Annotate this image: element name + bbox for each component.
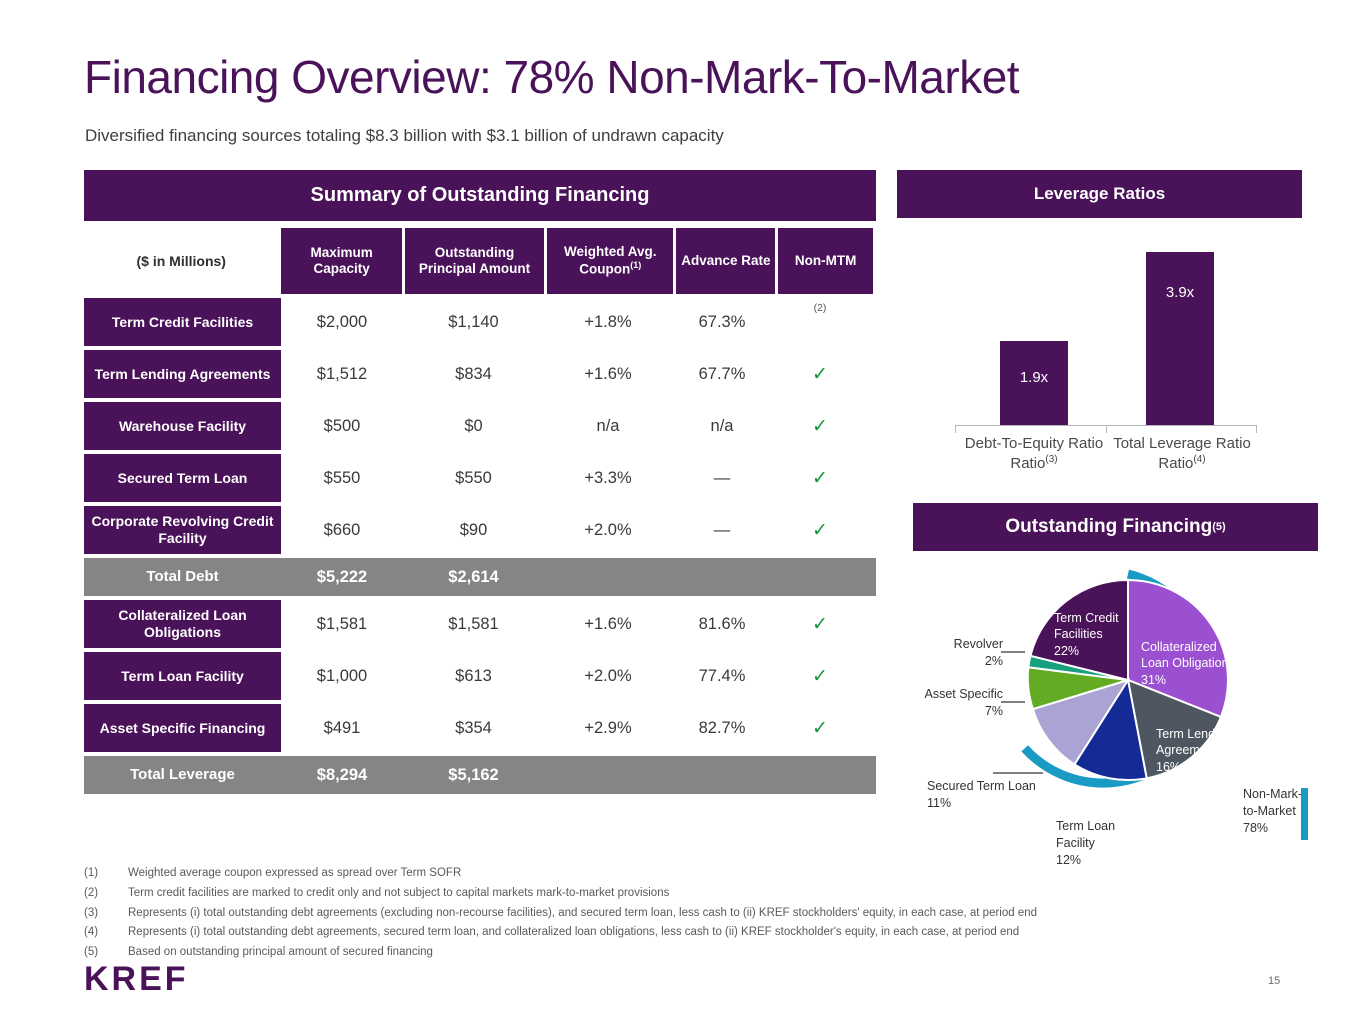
footnote-ref-1: (1) bbox=[630, 260, 641, 270]
footnote-item: (5) Based on outstanding principal amoun… bbox=[84, 943, 1284, 963]
cell-total-leverage-max-capacity: $8,294 bbox=[281, 756, 403, 794]
kref-logo: KREF bbox=[84, 960, 189, 999]
cell-non-mtm: ✓ bbox=[772, 454, 868, 502]
checkmark-icon: ✓ bbox=[812, 719, 828, 738]
cell-max-capacity: $660 bbox=[281, 506, 403, 554]
cell-total-leverage-advance bbox=[672, 756, 772, 794]
row-label-term-credit-facilities: Term Credit Facilities bbox=[84, 298, 281, 346]
checkmark-icon: ✓ bbox=[812, 667, 828, 686]
cell-total-debt-advance bbox=[672, 558, 772, 596]
cell-coupon: n/a bbox=[544, 402, 672, 450]
column-header-non-mtm-label: Non-MTM bbox=[795, 253, 856, 269]
pie-label-collateralized-loan-obligations: Collateralized Loan Obligations31% bbox=[1141, 639, 1247, 688]
row-label-total-leverage: Total Leverage bbox=[84, 756, 281, 794]
pie-label-secured-term-loan: Secured Term Loan11% bbox=[927, 778, 1047, 812]
footnote-text: Term credit facilities are marked to cre… bbox=[128, 884, 669, 904]
cell-non-mtm: ✓ bbox=[772, 704, 868, 752]
pie-label-term-lending-agreements-text: Term Lending Agreements bbox=[1156, 727, 1232, 757]
pie-label-term-loan-facility: Term LoanFacility12% bbox=[1056, 818, 1136, 869]
outstanding-financing-header-label: Outstanding Financing bbox=[1005, 516, 1212, 538]
footnotes: (1) Weighted average coupon expressed as… bbox=[84, 864, 1284, 963]
table-row: Collateralized Loan Obligations $1,581 $… bbox=[84, 600, 876, 648]
table-row: Term Loan Facility $1,000 $613 +2.0% 77.… bbox=[84, 652, 876, 700]
column-header-advance-rate-label: Advance Rate bbox=[681, 253, 770, 269]
row-label-warehouse-facility: Warehouse Facility bbox=[84, 402, 281, 450]
footnote-item: (2) Term credit facilities are marked to… bbox=[84, 884, 1284, 904]
footnote-ref-5: (5) bbox=[1212, 521, 1225, 533]
cell-coupon: +1.6% bbox=[544, 350, 672, 398]
pie-value-secured-term-loan: 11% bbox=[927, 796, 951, 810]
footnote-number: (3) bbox=[84, 904, 128, 924]
cell-advance-rate: 67.7% bbox=[672, 350, 772, 398]
footnote-item: (3) Represents (i) total outstanding deb… bbox=[84, 904, 1284, 924]
cell-outstanding: $90 bbox=[403, 506, 544, 554]
footnote-text: Weighted average coupon expressed as spr… bbox=[128, 864, 461, 884]
cell-total-debt-outstanding: $2,614 bbox=[403, 558, 544, 596]
page-title: Financing Overview: 78% Non-Mark-To-Mark… bbox=[84, 50, 1019, 104]
cell-non-mtm: ✓ bbox=[772, 652, 868, 700]
pie-label-nonmtm-l2: to-Market bbox=[1243, 804, 1296, 818]
pie-label-revolver-text: Revolver bbox=[954, 637, 1003, 651]
outstanding-financing-chart: Term Credit Facilities22% Collateralized… bbox=[913, 560, 1353, 880]
total-debt-row: Total Debt $5,222 $2,614 bbox=[84, 558, 876, 596]
table-row: Warehouse Facility $500 $0 n/a n/a ✓ bbox=[84, 402, 876, 450]
leverage-ratios-chart: 1.9x 3.9x Debt-To-Equity Ratio Ratio(3) … bbox=[897, 230, 1302, 480]
cell-advance-rate: 67.3% bbox=[672, 298, 772, 346]
cell-coupon: +2.0% bbox=[544, 506, 672, 554]
cell-max-capacity: $550 bbox=[281, 454, 403, 502]
pie-value-asset-specific: 7% bbox=[985, 704, 1003, 718]
checkmark-icon: ✓ bbox=[812, 417, 828, 436]
cell-max-capacity: $1,512 bbox=[281, 350, 403, 398]
cell-total-debt-non-mtm bbox=[772, 558, 868, 596]
footnote-number: (1) bbox=[84, 864, 128, 884]
cell-outstanding: $0 bbox=[403, 402, 544, 450]
axis-tick-left bbox=[955, 425, 956, 433]
row-label-corporate-revolving-credit-facility: Corporate Revolving Credit Facility bbox=[84, 506, 281, 554]
cell-total-debt-coupon bbox=[544, 558, 672, 596]
cell-coupon: +1.8% bbox=[544, 298, 672, 346]
pie-label-term-credit-facilities-text: Term Credit Facilities bbox=[1054, 611, 1119, 641]
axis-label-debt-to-equity-text: Debt-To-Equity Ratio bbox=[965, 435, 1103, 452]
row-label-secured-term-loan: Secured Term Loan bbox=[84, 454, 281, 502]
cell-total-leverage-non-mtm bbox=[772, 756, 868, 794]
axis-tick-middle bbox=[1106, 425, 1107, 433]
row-label-collateralized-loan-obligations: Collateralized Loan Obligations bbox=[84, 600, 281, 648]
summary-table: ($ in Millions) Maximum Capacity Outstan… bbox=[84, 228, 876, 794]
checkmark-icon: ✓ bbox=[812, 615, 828, 634]
pie-label-term-credit-facilities: Term Credit Facilities22% bbox=[1054, 610, 1154, 659]
cell-total-leverage-coupon bbox=[544, 756, 672, 794]
bar-total-leverage bbox=[1146, 252, 1214, 425]
bar-label-total-leverage: 3.9x bbox=[1146, 284, 1214, 301]
footnote-text: Represents (i) total outstanding debt ag… bbox=[128, 904, 1037, 924]
cell-outstanding: $1,581 bbox=[403, 600, 544, 648]
cell-total-leverage-outstanding: $5,162 bbox=[403, 756, 544, 794]
table-row: Term Lending Agreements $1,512 $834 +1.6… bbox=[84, 350, 876, 398]
column-header-outstanding-principal: Outstanding Principal Amount bbox=[405, 228, 544, 294]
axis-label-total-leverage-suffix: Ratio(4) bbox=[1158, 455, 1205, 472]
cell-total-debt-max-capacity: $5,222 bbox=[281, 558, 403, 596]
column-header-coupon-label: Weighted Avg. Coupon bbox=[564, 244, 657, 277]
cell-coupon: +2.9% bbox=[544, 704, 672, 752]
pie-label-term-lending-agreements: Term Lending Agreements16% bbox=[1156, 726, 1250, 775]
cell-non-mtm: ✓ bbox=[772, 402, 868, 450]
cell-max-capacity: $1,581 bbox=[281, 600, 403, 648]
table-row: Term Credit Facilities $2,000 $1,140 +1.… bbox=[84, 298, 876, 346]
cell-non-mtm: ✓ bbox=[772, 600, 868, 648]
row-label-asset-specific-financing: Asset Specific Financing bbox=[84, 704, 281, 752]
cell-outstanding: $550 bbox=[403, 454, 544, 502]
cell-advance-rate: 81.6% bbox=[672, 600, 772, 648]
column-header-weighted-avg-coupon: Weighted Avg. Coupon(1) bbox=[547, 228, 673, 294]
table-row: Corporate Revolving Credit Facility $660… bbox=[84, 506, 876, 554]
cell-coupon: +3.3% bbox=[544, 454, 672, 502]
page-number: 15 bbox=[1268, 975, 1280, 987]
axis-label-debt-to-equity-suffix: Ratio(3) bbox=[1010, 455, 1057, 472]
pie-value-collateralized-loan-obligations: 31% bbox=[1141, 673, 1166, 687]
table-row: Asset Specific Financing $491 $354 +2.9%… bbox=[84, 704, 876, 752]
cell-advance-rate: 77.4% bbox=[672, 652, 772, 700]
pie-label-term-loan-facility-l1: Term Loan bbox=[1056, 819, 1115, 833]
table-row: Secured Term Loan $550 $550 +3.3% — ✓ bbox=[84, 454, 876, 502]
footnote-text: Represents (i) total outstanding debt ag… bbox=[128, 923, 1019, 943]
cell-coupon: +1.6% bbox=[544, 600, 672, 648]
axis-label-debt-to-equity: Debt-To-Equity Ratio Ratio(3) bbox=[954, 435, 1114, 474]
pie-label-revolver: Revolver2% bbox=[939, 636, 1003, 670]
summary-panel-header: Summary of Outstanding Financing bbox=[84, 170, 876, 221]
pie-value-term-lending-agreements: 16% bbox=[1156, 760, 1181, 774]
cell-coupon: +2.0% bbox=[544, 652, 672, 700]
pie-value-term-credit-facilities: 22% bbox=[1054, 644, 1079, 658]
cell-non-mtm: ✓ bbox=[772, 350, 868, 398]
axis-label-total-leverage: Total Leverage Ratio Ratio(4) bbox=[1102, 435, 1262, 474]
cell-advance-rate: — bbox=[672, 506, 772, 554]
cell-max-capacity: $500 bbox=[281, 402, 403, 450]
axis-tick-right bbox=[1256, 425, 1257, 433]
pie-value-revolver: 2% bbox=[985, 654, 1003, 668]
cell-outstanding: $613 bbox=[403, 652, 544, 700]
outstanding-financing-panel-header: Outstanding Financing(5) bbox=[913, 503, 1318, 551]
cell-outstanding: $834 bbox=[403, 350, 544, 398]
footnote-item: (4) Represents (i) total outstanding deb… bbox=[84, 923, 1284, 943]
column-header-max-capacity-label: Maximum Capacity bbox=[283, 245, 399, 277]
row-label-total-debt: Total Debt bbox=[84, 558, 281, 596]
leverage-ratios-panel-header: Leverage Ratios bbox=[897, 170, 1302, 218]
pie-label-term-loan-facility-l2: Facility bbox=[1056, 836, 1095, 850]
cell-advance-rate: n/a bbox=[672, 402, 772, 450]
footnote-ref-4: (4) bbox=[1193, 454, 1205, 465]
column-header-advance-rate: Advance Rate bbox=[676, 228, 775, 294]
checkmark-icon: ✓ bbox=[812, 365, 828, 384]
checkmark-icon: ✓ bbox=[812, 469, 828, 488]
column-header-outstanding-principal-label: Outstanding Principal Amount bbox=[407, 245, 542, 277]
pie-label-collateralized-loan-obligations-text: Collateralized Loan Obligations bbox=[1141, 640, 1235, 670]
pie-label-asset-specific: Asset Specific7% bbox=[915, 686, 1003, 720]
footnote-number: (2) bbox=[84, 884, 128, 904]
cell-max-capacity: $1,000 bbox=[281, 652, 403, 700]
pie-label-asset-specific-text: Asset Specific bbox=[924, 687, 1003, 701]
cell-max-capacity: $491 bbox=[281, 704, 403, 752]
axis-label-total-leverage-text: Total Leverage Ratio bbox=[1113, 435, 1251, 452]
bar-label-debt-to-equity: 1.9x bbox=[1000, 369, 1068, 386]
total-leverage-row: Total Leverage $8,294 $5,162 bbox=[84, 756, 876, 794]
checkmark-icon: ✓ bbox=[812, 521, 828, 540]
page-subtitle: Diversified financing sources totaling $… bbox=[85, 126, 724, 146]
pie-value-nonmtm: 78% bbox=[1243, 821, 1268, 835]
slide-root: Financing Overview: 78% Non-Mark-To-Mark… bbox=[0, 0, 1365, 1024]
footnote-number: (4) bbox=[84, 923, 128, 943]
cell-non-mtm: ✓ bbox=[772, 506, 868, 554]
cell-outstanding: $1,140 bbox=[403, 298, 544, 346]
column-header-max-capacity: Maximum Capacity bbox=[281, 228, 401, 294]
column-header-non-mtm: Non-MTM bbox=[778, 228, 873, 294]
pie-label-nonmtm-l1: Non-Mark- bbox=[1243, 787, 1302, 801]
row-label-term-lending-agreements: Term Lending Agreements bbox=[84, 350, 281, 398]
column-header-units: ($ in Millions) bbox=[84, 228, 278, 294]
footnote-item: (1) Weighted average coupon expressed as… bbox=[84, 864, 1284, 884]
footnote-ref-2: (2) bbox=[814, 302, 827, 314]
nonmtm-legend-swatch bbox=[1301, 788, 1308, 840]
table-header-row: ($ in Millions) Maximum Capacity Outstan… bbox=[84, 228, 876, 294]
pie-label-secured-term-loan-text: Secured Term Loan bbox=[927, 779, 1036, 793]
footnote-ref-3: (3) bbox=[1045, 454, 1057, 465]
cell-advance-rate: 82.7% bbox=[672, 704, 772, 752]
pie-label-non-mark-to-market: Non-Mark-to-Market78% bbox=[1243, 786, 1323, 837]
cell-non-mtm: (2) bbox=[772, 298, 868, 346]
cell-outstanding: $354 bbox=[403, 704, 544, 752]
cell-advance-rate: — bbox=[672, 454, 772, 502]
row-label-term-loan-facility: Term Loan Facility bbox=[84, 652, 281, 700]
cell-max-capacity: $2,000 bbox=[281, 298, 403, 346]
